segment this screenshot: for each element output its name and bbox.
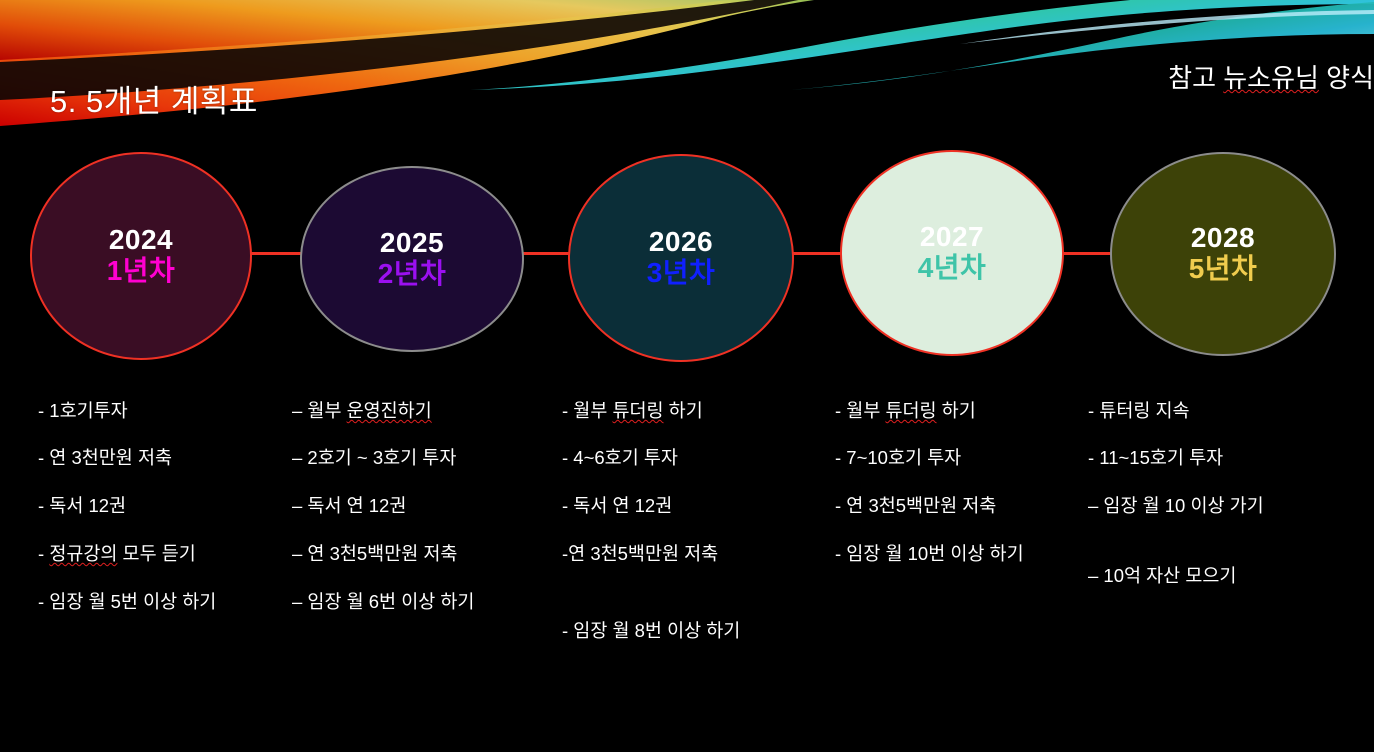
bullet-text: - 월부 xyxy=(835,400,885,421)
bullet-item: - 튜터링 지속 xyxy=(1088,400,1190,422)
timeline-node-2024[interactable]: 20241년차 xyxy=(30,152,252,360)
bullet-columns: - 1호기투자- 연 3천만원 저축- 독서 12권- 정규강의 모두 듣기- … xyxy=(0,392,1374,672)
bullet-item: - 월부 튜더링 하기 xyxy=(562,400,703,422)
bullet-item: - 임장 월 8번 이상 하기 xyxy=(562,620,740,642)
timeline-node-nth-year: 5년차 xyxy=(1189,253,1258,285)
timeline-connector-2 xyxy=(522,252,570,255)
bullet-text: 모두 듣기 xyxy=(117,543,195,564)
bullet-text: – 월부 xyxy=(292,400,347,421)
timeline-connector-4 xyxy=(1062,252,1112,255)
bullet-item: - 연 3천5백만원 저축 xyxy=(835,495,996,517)
bullet-text: 하기 xyxy=(664,400,703,421)
reference-note-prefix: 참고 xyxy=(1168,63,1223,93)
page-title: 5. 5개년 계획표 xyxy=(50,76,258,121)
reference-note: 참고 뉴소유님 양식 xyxy=(1168,58,1374,95)
bullet-item: – 임장 월 6번 이상 하기 xyxy=(292,591,474,613)
timeline-node-nth-year: 4년차 xyxy=(918,252,987,284)
timeline-connector-1 xyxy=(250,252,302,255)
bullet-text-spellcheck-flag: 튜더링 xyxy=(885,400,936,421)
bullet-text-spellcheck-flag: 튜더링 xyxy=(612,400,663,421)
bullet-text: - xyxy=(38,543,49,564)
bullet-text-spellcheck-flag: 정규강의 xyxy=(49,543,117,564)
timeline-node-year: 2026 xyxy=(649,227,713,256)
bullet-item: – 임장 월 10 이상 가기 xyxy=(1088,495,1264,517)
timeline-node-year: 2025 xyxy=(380,228,444,257)
reference-note-suffix: 양식 xyxy=(1319,63,1374,93)
timeline-connector-3 xyxy=(792,252,842,255)
bullet-item: - 임장 월 5번 이상 하기 xyxy=(38,591,216,613)
bullet-item: – 연 3천5백만원 저축 xyxy=(292,543,457,565)
timeline-node-nth-year: 3년차 xyxy=(647,257,716,289)
bullet-item: – 2호기 ~ 3호기 투자 xyxy=(292,447,456,469)
bullet-item: - 정규강의 모두 듣기 xyxy=(38,543,196,565)
timeline-diagram: 20241년차20252년차20263년차20274년차20285년차 xyxy=(0,148,1374,363)
reference-note-author: 뉴소유님 xyxy=(1223,63,1319,93)
bullet-item: - 연 3천만원 저축 xyxy=(38,447,172,469)
bullet-item: – 10억 자산 모으기 xyxy=(1088,565,1236,587)
bullet-item: - 4~6호기 투자 xyxy=(562,447,678,469)
bullet-item: - 독서 12권 xyxy=(38,495,126,517)
timeline-node-2026[interactable]: 20263년차 xyxy=(568,154,794,362)
timeline-node-year: 2024 xyxy=(109,225,173,254)
timeline-node-2027[interactable]: 20274년차 xyxy=(840,150,1064,356)
bullet-item: - 월부 튜더링 하기 xyxy=(835,400,976,422)
timeline-node-nth-year: 2년차 xyxy=(378,258,447,290)
timeline-node-year: 2027 xyxy=(920,222,984,251)
bullet-text-spellcheck-flag: 운영진하기 xyxy=(347,400,432,421)
timeline-node-2028[interactable]: 20285년차 xyxy=(1110,152,1336,356)
bullet-text: 하기 xyxy=(937,400,976,421)
bullet-item: - 임장 월 10번 이상 하기 xyxy=(835,543,1024,565)
bullet-item: – 독서 연 12권 xyxy=(292,495,406,517)
bullet-item: -연 3천5백만원 저축 xyxy=(562,543,718,565)
slide-canvas: 5. 5개년 계획표 참고 뉴소유님 양식 20241년차20252년차2026… xyxy=(0,0,1374,752)
bullet-item: – 월부 운영진하기 xyxy=(292,400,432,422)
bullet-item: - 7~10호기 투자 xyxy=(835,447,961,469)
bullet-item: - 11~15호기 투자 xyxy=(1088,447,1223,469)
bullet-item: - 독서 연 12권 xyxy=(562,495,672,517)
timeline-node-nth-year: 1년차 xyxy=(107,255,176,287)
timeline-node-2025[interactable]: 20252년차 xyxy=(300,166,524,352)
bullet-text: - 월부 xyxy=(562,400,612,421)
bullet-item: - 1호기투자 xyxy=(38,400,128,422)
timeline-node-year: 2028 xyxy=(1191,223,1255,252)
